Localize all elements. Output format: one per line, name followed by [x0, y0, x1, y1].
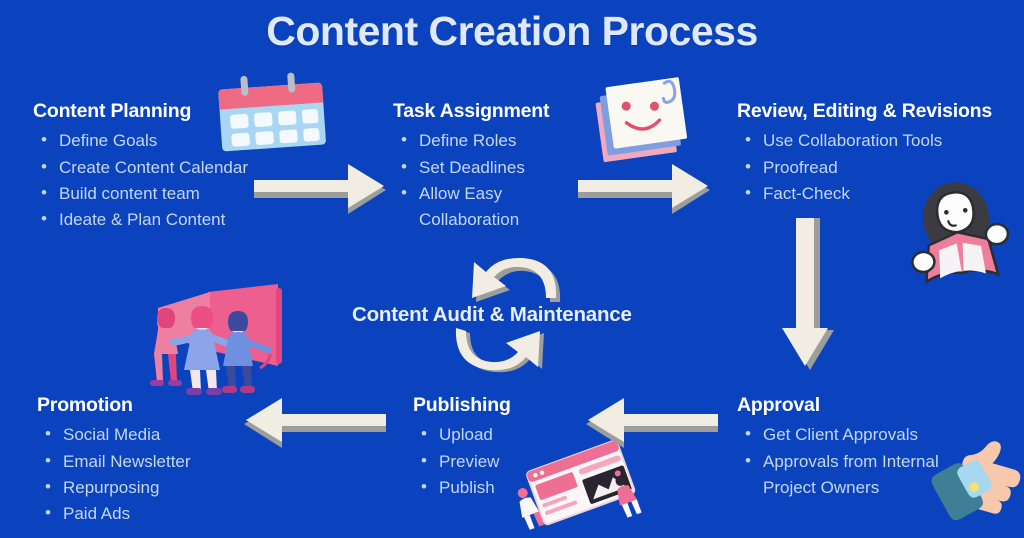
stage-heading: Content Planning: [33, 100, 248, 123]
list-item: Social Media: [37, 422, 191, 448]
stage-heading: Approval: [737, 394, 939, 417]
list-item: Fact-Check: [737, 181, 992, 207]
list-item: Set Deadlines: [393, 155, 549, 181]
list-item-continuation: Project Owners: [737, 475, 939, 501]
arrow-approval-to-publishing: [582, 404, 718, 454]
arrow-publishing-to-promotion: [240, 404, 386, 454]
center-cycle-label: Content Audit & Maintenance: [352, 303, 632, 327]
refresh-cycle-arrow-bottom-icon: [450, 328, 570, 384]
list-item: Define Roles: [393, 128, 549, 154]
list-item: Preview: [413, 449, 511, 475]
list-item: Approvals from Internal: [737, 449, 939, 475]
stage-publishing: Publishing Upload Preview Publish: [413, 394, 511, 501]
stage-item-list: Social Media Email Newsletter Repurposin…: [37, 422, 191, 527]
list-item: Use Collaboration Tools: [737, 128, 992, 154]
list-item: Build content team: [33, 181, 248, 207]
refresh-cycle-arrow-top-icon: [452, 252, 572, 308]
stage-item-list: Define Goals Create Content Calendar Bui…: [33, 128, 248, 233]
arrow-planning-to-task: [254, 170, 390, 220]
list-item: Proofread: [737, 155, 992, 181]
list-item: Define Goals: [33, 128, 248, 154]
list-item: Create Content Calendar: [33, 155, 248, 181]
stage-item-list: Define Roles Set Deadlines Allow Easy Co…: [393, 128, 549, 233]
list-item: Allow Easy: [393, 181, 549, 207]
stage-promotion: Promotion Social Media Email Newsletter …: [37, 394, 191, 528]
megaphone-team-icon: [118, 282, 284, 398]
stage-item-list: Get Client Approvals Approvals from Inte…: [737, 422, 939, 500]
stage-review-editing-revisions: Review, Editing & Revisions Use Collabor…: [737, 100, 992, 207]
list-item: Repurposing: [37, 475, 191, 501]
stage-content-planning: Content Planning Define Goals Create Con…: [33, 100, 248, 234]
stage-item-list: Use Collaboration Tools Proofread Fact-C…: [737, 128, 992, 207]
list-item: Upload: [413, 422, 511, 448]
stage-heading: Review, Editing & Revisions: [737, 100, 992, 123]
page-title: Content Creation Process: [0, 8, 1024, 55]
stage-heading: Promotion: [37, 394, 191, 417]
stage-heading: Task Assignment: [393, 100, 549, 123]
list-item: Paid Ads: [37, 501, 191, 527]
thumbs-up-icon: [928, 424, 1024, 538]
stage-approval: Approval Get Client Approvals Approvals …: [737, 394, 939, 501]
list-item: Ideate & Plan Content: [33, 207, 248, 233]
list-item-continuation: Collaboration: [393, 207, 549, 233]
stage-item-list: Upload Preview Publish: [413, 422, 511, 501]
stage-task-assignment: Task Assignment Define Roles Set Deadlin…: [393, 100, 549, 234]
arrow-task-to-review: [578, 170, 714, 220]
infographic-canvas: Content Creation Process: [0, 0, 1024, 538]
list-item: Get Client Approvals: [737, 422, 939, 448]
stage-heading: Publishing: [413, 394, 511, 417]
list-item: Publish: [413, 475, 511, 501]
list-item: Email Newsletter: [37, 449, 191, 475]
sticky-notes-icon: [590, 70, 702, 166]
arrow-review-to-approval: [788, 218, 848, 374]
